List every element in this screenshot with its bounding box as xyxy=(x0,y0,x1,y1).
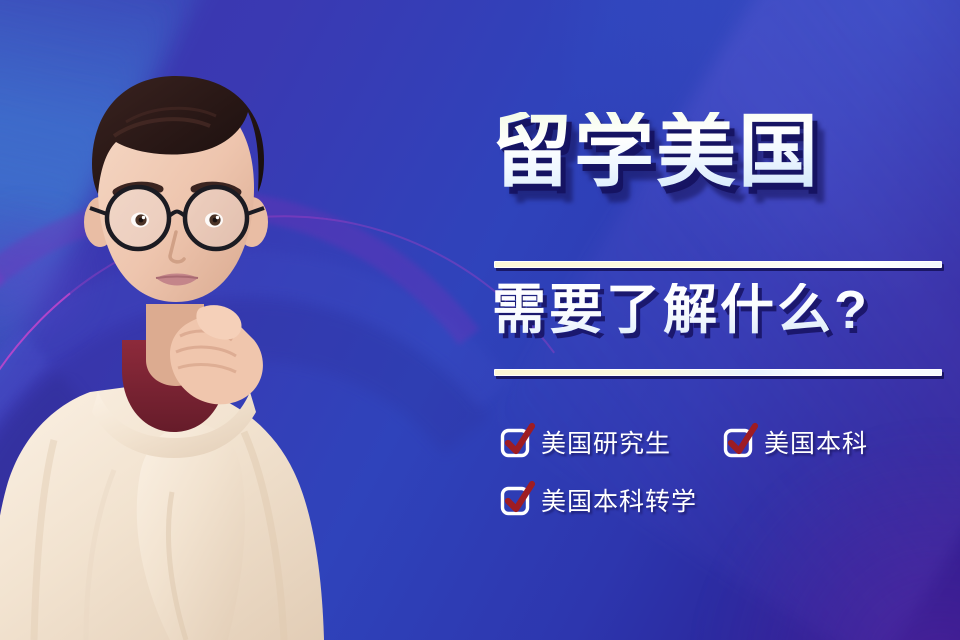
checklist-row: 美国研究生 美国本科 xyxy=(500,424,950,460)
page-title: 留学美国 xyxy=(492,112,820,192)
checklist-item-graduate[interactable]: 美国研究生 xyxy=(500,424,671,460)
checkbox-checked-icon[interactable] xyxy=(500,427,530,457)
checklist-item-label: 美国研究生 xyxy=(541,424,671,460)
divider-bottom xyxy=(494,369,942,376)
checklist-row: 美国本科转学 xyxy=(500,482,950,518)
checklist-item-undergraduate[interactable]: 美国本科 xyxy=(723,424,868,460)
checklist-item-label: 美国本科 xyxy=(764,424,868,460)
checkbox-checked-icon[interactable] xyxy=(500,485,530,515)
page-subtitle: 需要了解什么? xyxy=(492,283,870,337)
divider-top xyxy=(494,261,942,268)
person-portrait xyxy=(0,40,384,640)
content-column: 留学美国 需要了解什么? 美国研究生 xyxy=(488,0,960,640)
checklist-item-transfer[interactable]: 美国本科转学 xyxy=(500,482,697,518)
checklist-item-label: 美国本科转学 xyxy=(541,482,697,518)
checklist: 美国研究生 美国本科 xyxy=(500,424,950,518)
promo-banner: 留学美国 需要了解什么? 美国研究生 xyxy=(0,0,960,640)
checkbox-checked-icon[interactable] xyxy=(723,427,753,457)
